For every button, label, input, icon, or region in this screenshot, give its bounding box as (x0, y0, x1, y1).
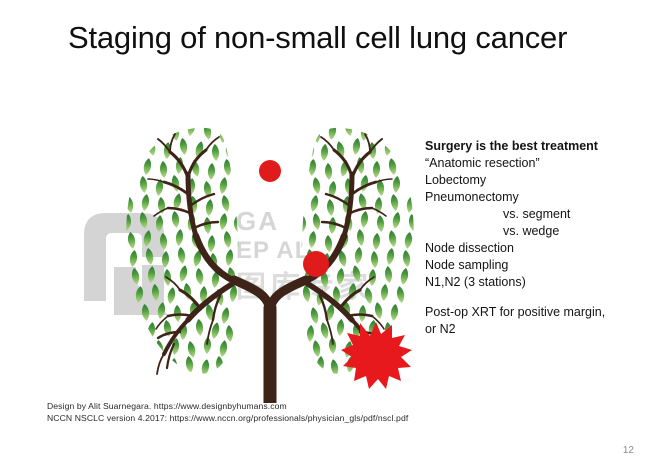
treatment-line-node-sampling: Node sampling (425, 257, 655, 274)
treatment-line-vs-segment: vs. segment (425, 206, 655, 223)
treatment-line-n1-n2-stations: N1,N2 (3 stations) (425, 274, 655, 291)
treatment-line-or-n2: or N2 (425, 321, 655, 338)
page-number: 12 (623, 445, 634, 456)
lung-tree-illustration (120, 118, 420, 403)
treatment-heading: Surgery is the best treatment (425, 138, 655, 155)
footer-design-credit: Design by Alit Suarnegara. https://www.d… (47, 401, 408, 413)
treatment-text-block: Surgery is the best treatment “Anatomic … (425, 138, 655, 338)
tumor-node-upper (259, 160, 281, 182)
tumor-burst-lower (341, 322, 412, 389)
treatment-line-node-dissection: Node dissection (425, 240, 655, 257)
page-title: Staging of non-small cell lung cancer (68, 20, 567, 56)
treatment-line-vs-wedge: vs. wedge (425, 223, 655, 240)
footer-credits: Design by Alit Suarnegara. https://www.d… (47, 401, 408, 424)
treatment-line-postop-xrt: Post-op XRT for positive margin, (425, 304, 655, 321)
footer-nccn-reference: NCCN NSCLC version 4.2017: https://www.n… (47, 413, 408, 425)
slide-canvas: Staging of non-small cell lung cancer GA… (0, 0, 670, 472)
treatment-line-anatomic-resection: “Anatomic resection” (425, 155, 655, 172)
treatment-spacer (425, 291, 655, 304)
treatment-line-lobectomy: Lobectomy (425, 172, 655, 189)
treatment-line-pneumonectomy: Pneumonectomy (425, 189, 655, 206)
tumor-node-central (303, 251, 329, 277)
